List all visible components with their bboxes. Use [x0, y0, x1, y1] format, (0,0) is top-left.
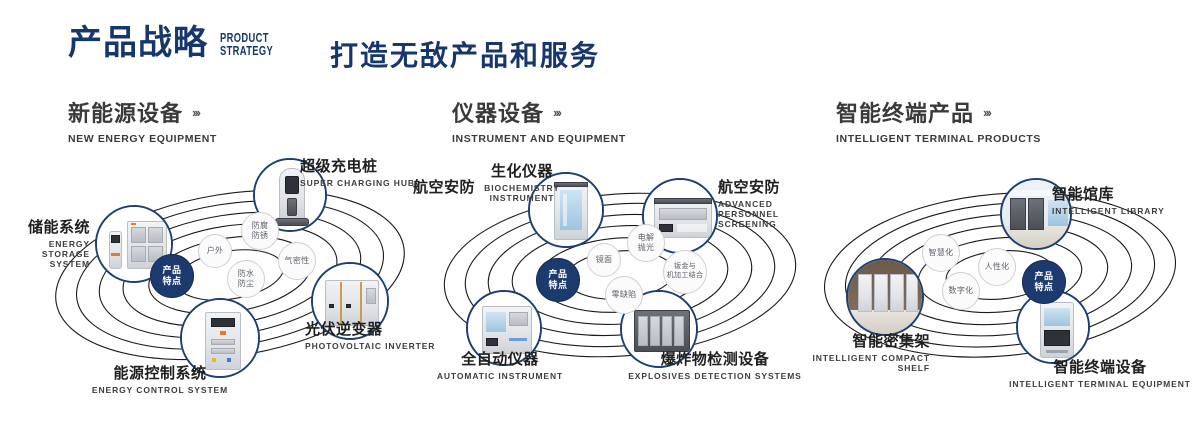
feature-line2: 防尘 [238, 279, 255, 289]
section-heading-cn: 仪器设备 [452, 96, 544, 128]
core-line2: 特点 [1034, 282, 1053, 293]
node-intelligent-compact-shelf[interactable] [846, 258, 924, 336]
caption-intelligent-compact-shelf: 智能密集架 INTELLIGENT COMPACT SHELF [800, 330, 930, 373]
core-line1: 产品 [1034, 271, 1053, 282]
feature-line2: 机加工结合 [667, 272, 704, 281]
caption-cn: 能源控制系统 [70, 362, 250, 383]
page-title-en-line1: PRODUCT [220, 31, 273, 45]
core-line2: 特点 [162, 276, 181, 287]
feature-line1: 户外 [207, 246, 224, 256]
caption-cn: 光伏逆变器 [305, 318, 435, 339]
caption-en: PHOTOVOLTAIC INVERTER [305, 341, 435, 351]
caption-cn: 超级充电桩 [300, 155, 415, 176]
feature-bubble-intelligence: 智慧化 [922, 234, 960, 272]
feature-line1: 气密性 [285, 256, 310, 266]
feature-line1: 数字化 [949, 286, 974, 296]
caption-en: INTELLIGENT COMPACT SHELF [800, 353, 930, 373]
feature-bubble-mirror-finish: 镜面 [587, 243, 621, 277]
feature-bubble-zero-defect: 零缺陷 [605, 276, 643, 314]
feature-bubble-anticorrosion: 防腐 防锈 [241, 212, 279, 250]
feature-bubble-airtightness: 气密性 [278, 242, 316, 280]
caption-en: SUPER CHARGING HUB [300, 178, 415, 188]
feature-line1: 零缺陷 [612, 290, 637, 300]
feature-line1: 人性化 [985, 262, 1010, 272]
caption-en: ENERGY CONTROL SYSTEM [70, 385, 250, 395]
poster-canvas: 产品战略 PRODUCT STRATEGY 打造无敌产品和服务 新能源设备›››… [0, 0, 1200, 422]
caption-cn: 储能系统 [0, 216, 90, 237]
feature-bubble-waterproof: 防水 防尘 [227, 260, 265, 298]
core-line2: 特点 [548, 280, 567, 291]
caption-explosives-detection-systems: 爆炸物检测设备 EXPLOSIVES DETECTION SYSTEMS [620, 348, 810, 381]
caption-super-charging-hub: 超级充电桩 SUPER CHARGING HUB [300, 155, 415, 188]
chevron-right-icon: ››› [553, 105, 560, 120]
core-badge-product-features: 产品 特点 [1022, 260, 1066, 304]
feature-line1: 防水 [238, 269, 255, 279]
feature-bubble-sheetmetal-machining: 钣金与 机加工结合 [663, 250, 707, 294]
caption-cn: 爆炸物检测设备 [620, 348, 810, 369]
caption-en: ENERGY STORAGE SYSTEM [0, 239, 90, 269]
feature-line1: 智慧化 [929, 248, 954, 258]
section-heading-new-energy: 新能源设备››› NEW ENERGY EQUIPMENT [68, 96, 217, 145]
caption-energy-control-system: 能源控制系统 ENERGY CONTROL SYSTEM [70, 362, 250, 395]
chevron-right-icon: ››› [192, 105, 199, 120]
caption-cn: 智能终端设备 [1000, 356, 1200, 377]
caption-energy-storage-system: 储能系统 ENERGY STORAGE SYSTEM [0, 216, 90, 269]
caption-cn: 全自动仪器 [420, 348, 580, 369]
page-slogan: 打造无敌产品和服务 [330, 34, 600, 74]
page-title-cn: 产品战略 [68, 26, 208, 60]
core-badge-product-features: 产品 特点 [150, 254, 194, 298]
caption-biochemistry-instrument: 生化仪器 BIOCHEMISTRY INSTRUMENT [462, 160, 582, 203]
photo-intelligent-terminal-equipment [1018, 292, 1088, 362]
feature-line2: 防锈 [252, 231, 269, 241]
caption-en: EXPLOSIVES DETECTION SYSTEMS [620, 371, 810, 381]
caption-cn: 智能密集架 [800, 330, 930, 351]
caption-intelligent-library: 智能馆库 INTELLIGENT LIBRARY [1052, 183, 1165, 216]
page-title-en-line2: STRATEGY [220, 44, 273, 58]
section-heading-en: INSTRUMENT AND EQUIPMENT [452, 133, 626, 145]
feature-bubble-outdoor: 户外 [198, 234, 232, 268]
caption-en: AUTOMATIC INSTRUMENT [420, 371, 580, 381]
caption-intelligent-terminal-equipment: 智能终端设备 INTELLIGENT TERMINAL EQUIPMENT [1000, 356, 1200, 389]
caption-en: INTELLIGENT LIBRARY [1052, 206, 1165, 216]
section-heading-cn: 新能源设备 [68, 96, 183, 128]
feature-line2: 抛光 [638, 243, 655, 253]
caption-en: BIOCHEMISTRY INSTRUMENT [462, 183, 582, 203]
section-heading-intelligent-terminal: 智能终端产品››› INTELLIGENT TERMINAL PRODUCTS [836, 96, 1041, 145]
feature-line1: 防腐 [252, 221, 269, 231]
chevron-right-icon: ››› [983, 105, 990, 120]
feature-line1: 镜面 [596, 255, 613, 265]
section-heading-en: NEW ENERGY EQUIPMENT [68, 133, 217, 145]
page-title: 产品战略 PRODUCT STRATEGY [68, 26, 294, 60]
core-line1: 产品 [162, 265, 181, 276]
core-line1: 产品 [548, 269, 567, 280]
caption-photovoltaic-inverter: 光伏逆变器 PHOTOVOLTAIC INVERTER [305, 318, 435, 351]
feature-bubble-digitalization: 数字化 [942, 272, 980, 310]
feature-bubble-humanization: 人性化 [978, 248, 1016, 286]
caption-en: INTELLIGENT TERMINAL EQUIPMENT [1000, 379, 1200, 389]
feature-line1: 电解 [638, 233, 655, 243]
photo-intelligent-compact-shelf [848, 260, 922, 334]
feature-line1: 钣金与 [674, 263, 696, 272]
core-badge-product-features: 产品 特点 [536, 258, 580, 302]
feature-bubble-electropolishing: 电解 抛光 [627, 224, 665, 262]
section-heading-instrument: 仪器设备››› INSTRUMENT AND EQUIPMENT [452, 96, 626, 145]
section-heading-en: INTELLIGENT TERMINAL PRODUCTS [836, 133, 1041, 145]
section-heading-cn: 智能终端产品 [836, 96, 974, 128]
caption-cn: 生化仪器 [462, 160, 582, 181]
caption-cn: 智能馆库 [1052, 183, 1165, 204]
caption-automatic-instrument: 全自动仪器 AUTOMATIC INSTRUMENT [420, 348, 580, 381]
page-title-en: PRODUCT STRATEGY [220, 31, 273, 58]
